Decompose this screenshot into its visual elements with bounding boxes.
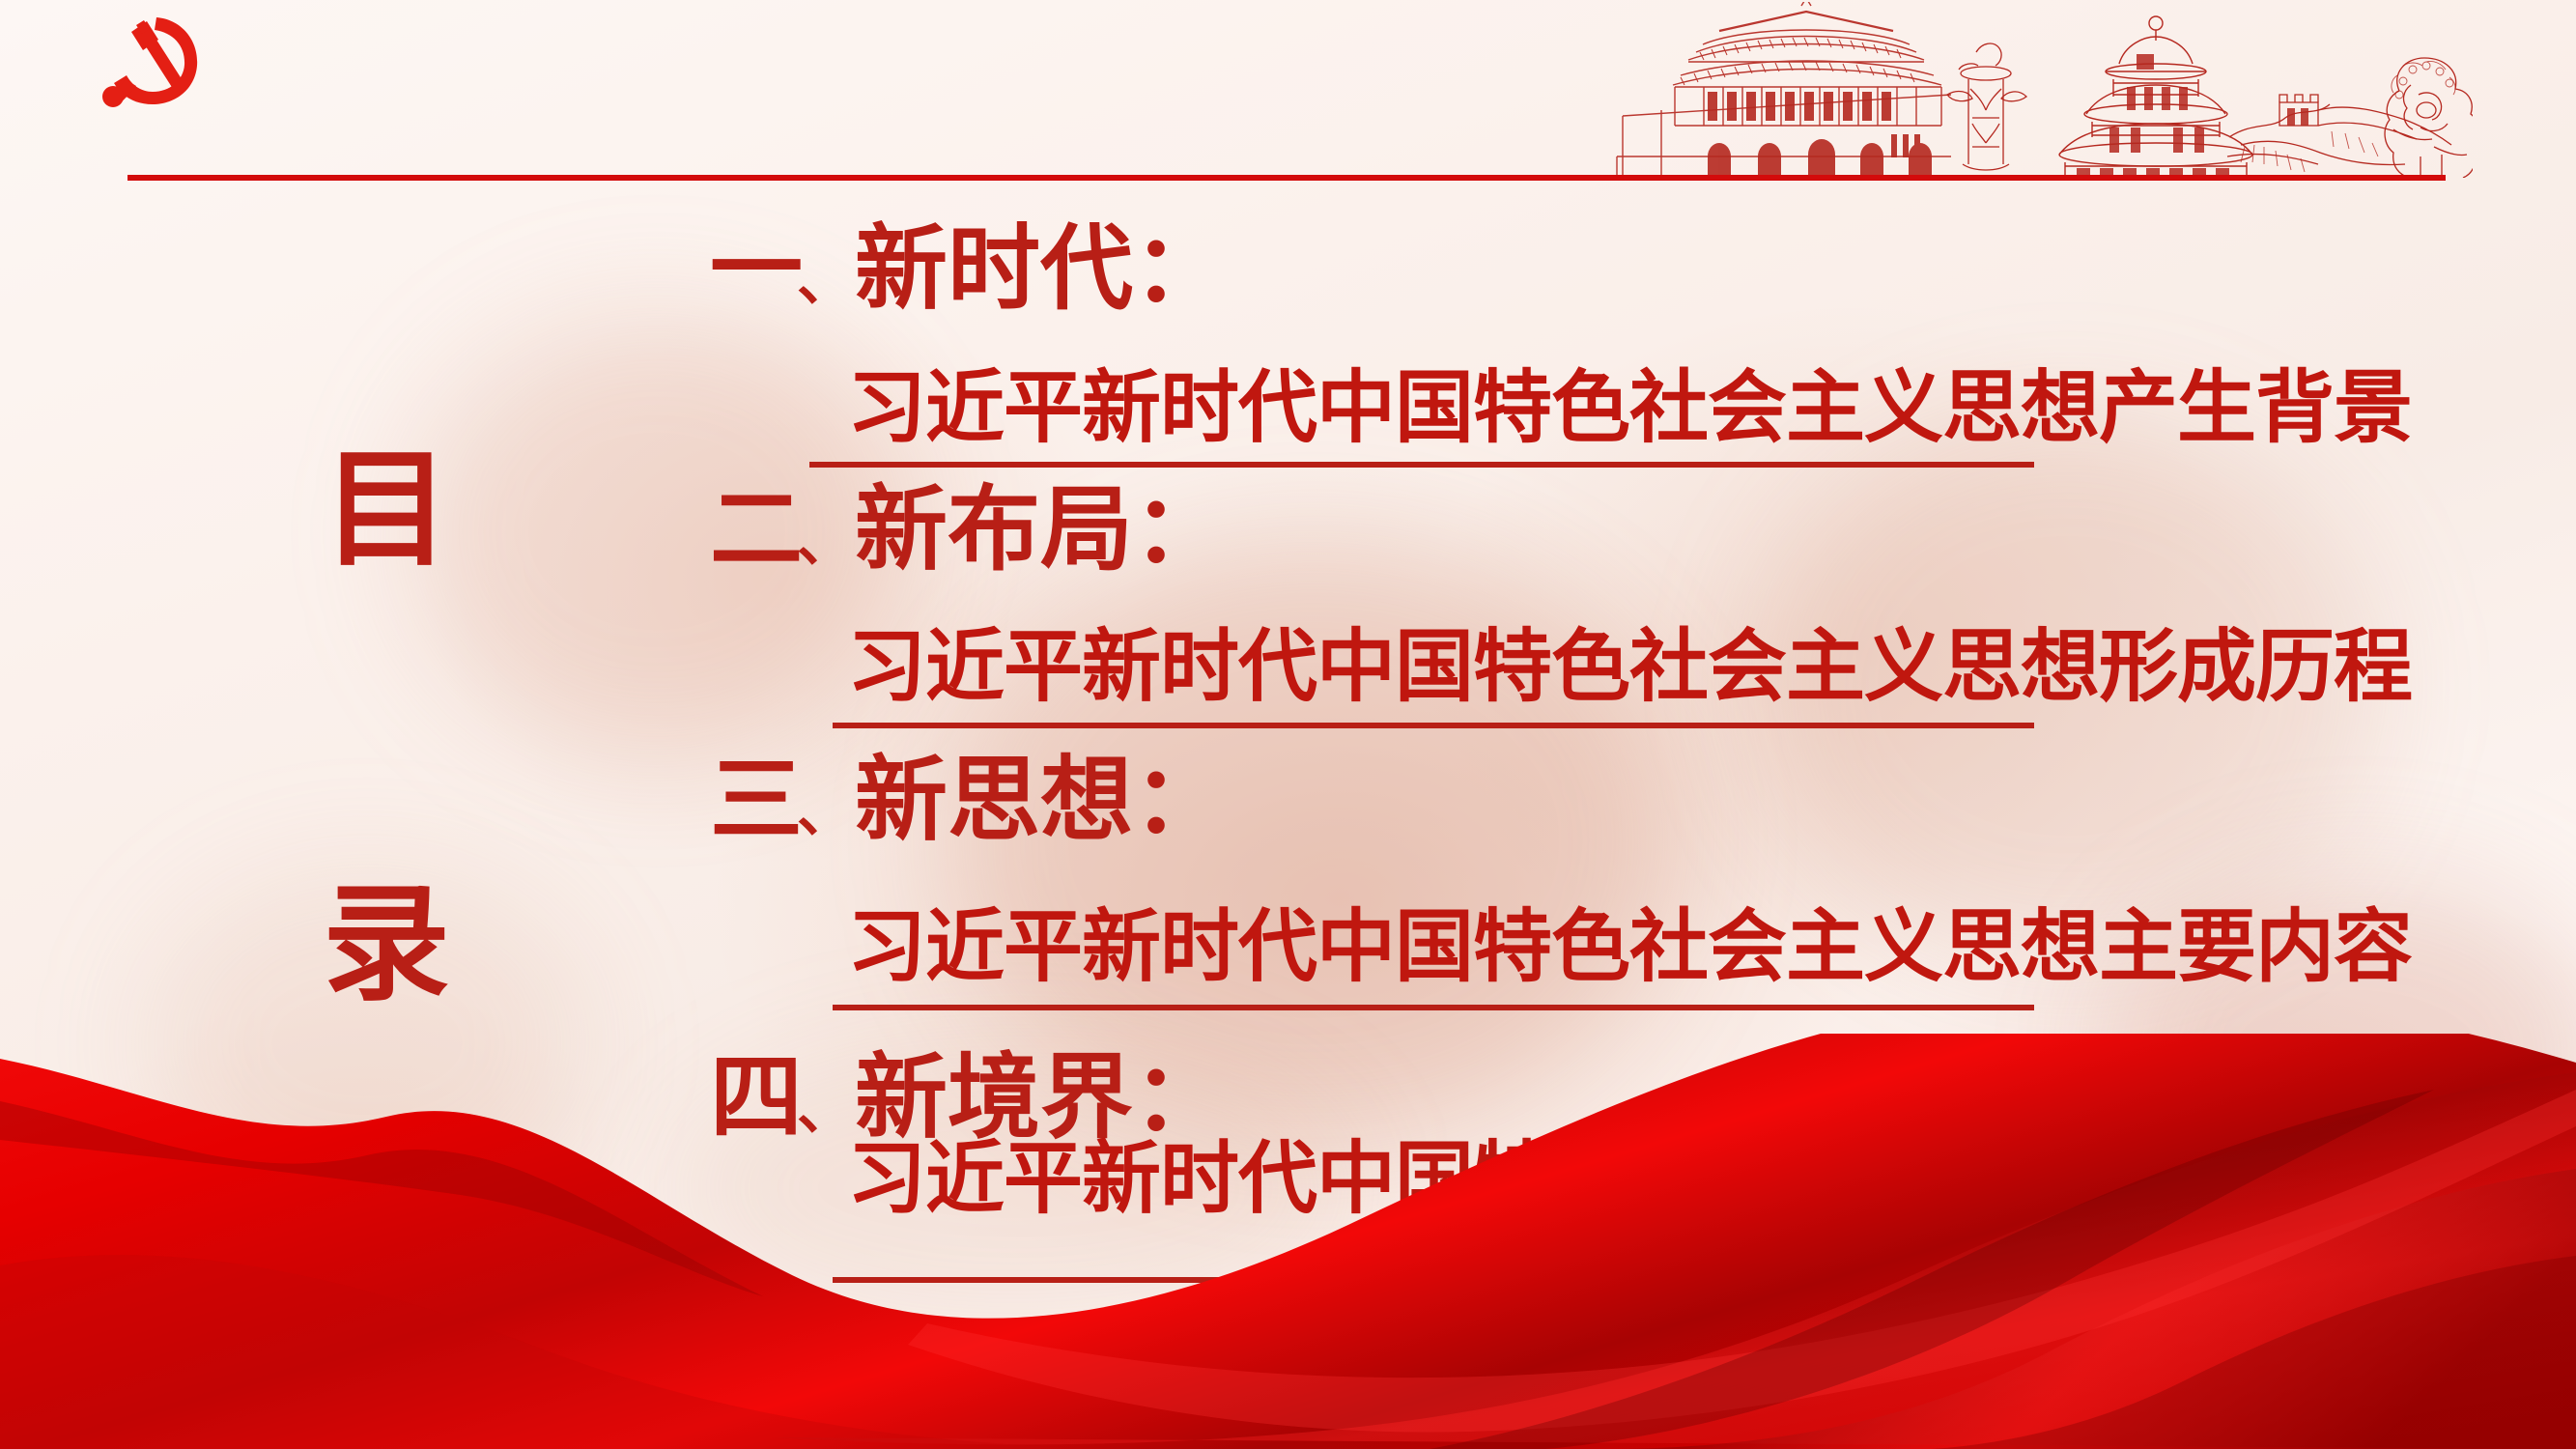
toc-entry-3-separator: 、 xyxy=(797,784,853,846)
toc-entry-3-heading[interactable]: 三 、 新思想： xyxy=(710,755,1226,846)
slide-canvas: 目 录 一 、 新时代： 习近平新时代中国特色社会主义思想产生背景 二 、 新布… xyxy=(0,0,2576,1449)
header-divider-rule xyxy=(127,175,2446,181)
toc-entry-1-heading[interactable]: 一 、 新时代： xyxy=(710,224,1226,315)
toc-entry-2-subtitle: 习近平新时代中国特色社会主义思想形成历程 xyxy=(847,628,2412,707)
toc-entry-1-subtitle: 习近平新时代中国特色社会主义思想产生背景 xyxy=(847,369,2412,448)
toc-label-character-1: 目 xyxy=(290,446,483,574)
toc-entry-2-heading[interactable]: 二 、 新布局： xyxy=(710,485,1226,576)
toc-entry-1-title: 新时代： xyxy=(855,224,1226,315)
cpc-party-emblem-icon xyxy=(97,12,205,112)
toc-entry-3-title: 新思想： xyxy=(855,755,1226,846)
toc-entry-1-separator: 、 xyxy=(797,253,853,315)
toc-entry-3-underline xyxy=(833,1005,2034,1010)
toc-entry-3-number: 三 xyxy=(710,755,801,846)
toc-entry-2-underline xyxy=(833,723,2034,728)
toc-entry-1-number: 一 xyxy=(710,224,801,315)
toc-entry-3-subtitle: 习近平新时代中国特色社会主义思想主要内容 xyxy=(847,908,2412,987)
toc-label-character-2: 录 xyxy=(290,881,483,1009)
red-silk-ribbon-decoration xyxy=(0,1034,2576,1449)
toc-entry-2-number: 二 xyxy=(710,485,801,576)
toc-entry-2-title: 新布局： xyxy=(855,485,1226,576)
toc-entry-2-separator: 、 xyxy=(797,514,853,576)
toc-entry-1-underline xyxy=(809,462,2034,468)
landmarks-illustration xyxy=(1603,2,2473,178)
